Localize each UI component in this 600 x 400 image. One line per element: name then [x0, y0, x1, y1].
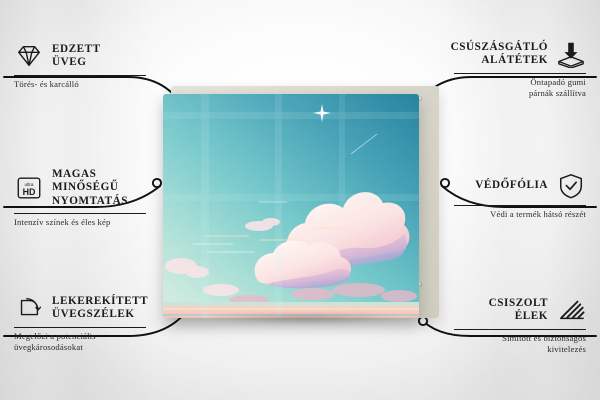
infographic-canvas: EDZETT ÜVEG Törés- és karcálló ultra HD … — [0, 0, 600, 400]
feature-title: CSÚSZÁSGÁTLÓ ALÁTÉTEK — [451, 41, 548, 68]
feature-protective-film[interactable]: VÉDŐFÓLIA Védi a termék hátsó részét — [454, 172, 586, 220]
hatched-triangle-icon — [556, 296, 586, 324]
feature-title: CSISZOLT ÉLEK — [489, 297, 548, 324]
feature-rule — [14, 213, 146, 214]
feature-title: EDZETT ÜVEG — [52, 43, 101, 70]
feature-rule — [14, 327, 146, 328]
feature-title: VÉDŐFÓLIA — [475, 179, 548, 192]
feature-rule — [454, 73, 586, 74]
feature-high-quality-print[interactable]: ultra HD MAGAS MINŐSÉGŰ NYOMTATÁS Intenz… — [14, 168, 146, 228]
feature-rounded-glass-edges[interactable]: LEKEREKÍTETT ÜVEGSZÉLEK Megelőzi a poten… — [14, 294, 146, 352]
feature-tempered-glass[interactable]: EDZETT ÜVEG Törés- és karcálló — [14, 42, 146, 90]
product-image — [163, 86, 439, 323]
feature-title: LEKEREKÍTETT ÜVEGSZÉLEK — [52, 295, 148, 322]
feature-subtitle: Törés- és karcálló — [14, 79, 146, 90]
feature-title: MAGAS MINŐSÉGŰ NYOMTATÁS — [52, 168, 146, 208]
rounded-corner-icon — [14, 294, 44, 322]
product-shadow — [173, 314, 441, 332]
connector-dot-high-quality-print — [153, 179, 161, 187]
ultra-hd-icon: ultra HD — [14, 174, 44, 202]
shield-check-icon — [556, 172, 586, 200]
feature-subtitle: Megelőzi a potenciális üvegkárosodásokat — [14, 331, 146, 352]
feature-subtitle: Öntapadó gumi párnák szállítva — [454, 77, 586, 98]
press-pad-icon — [556, 40, 586, 68]
feature-polished-edges[interactable]: CSISZOLT ÉLEK Simított és biztonságos ki… — [454, 296, 586, 354]
feature-subtitle: Simított és biztonságos kivitelezés — [454, 333, 586, 354]
feature-rule — [14, 75, 146, 76]
feature-rule — [454, 205, 586, 206]
diamond-icon — [14, 42, 44, 70]
connector-dot-protective-film — [441, 179, 449, 187]
feature-rule — [454, 329, 586, 330]
feature-subtitle: Védi a termék hátsó részét — [454, 209, 586, 220]
feature-anti-slip-pads[interactable]: CSÚSZÁSGÁTLÓ ALÁTÉTEK Öntapadó gumi párn… — [454, 40, 586, 98]
feature-subtitle: Intenzív színek és éles kép — [14, 217, 146, 228]
svg-text:HD: HD — [23, 187, 36, 197]
sky-artwork — [163, 94, 419, 318]
printed-glass-front — [163, 94, 419, 318]
